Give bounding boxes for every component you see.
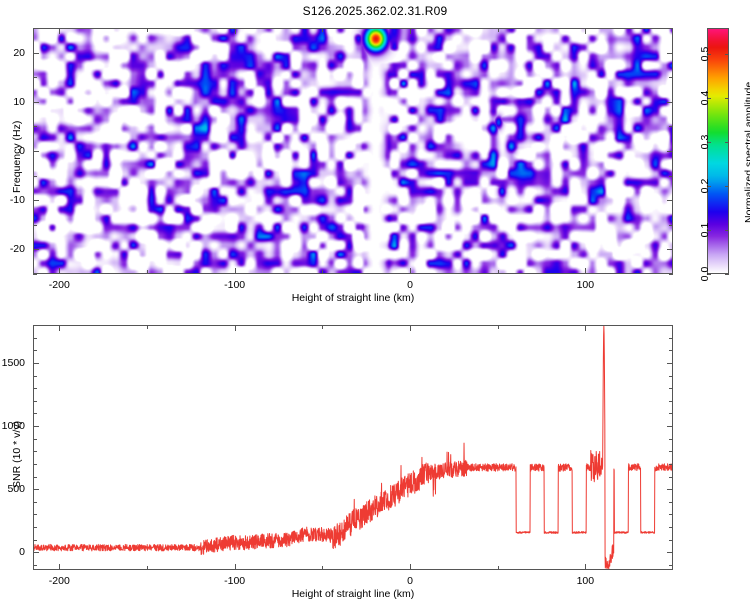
snr-ytick-minor [33, 439, 37, 440]
snr-xtick-major-top [410, 325, 411, 331]
snr-ytick-minor [33, 527, 37, 528]
snr-ytick-major-right [667, 363, 673, 364]
spec-ytick-major-right [667, 53, 673, 54]
figure-root: S126.2025.362.02.31.R09 -200-1000100-20-… [0, 0, 750, 600]
snr-ytick-major [33, 426, 39, 427]
snr-ytick-minor-right [669, 540, 673, 541]
spec-ytick-minor-right [669, 126, 673, 127]
spec-xticklabel: -100 [217, 279, 253, 291]
spec-ytick-minor [33, 225, 37, 226]
snr-panel [33, 325, 673, 570]
spec-ytick-minor-right [669, 225, 673, 226]
spectrogram-image [34, 29, 673, 274]
spec-xtick-major-top [235, 28, 236, 34]
spec-ytick-minor [33, 28, 37, 29]
spec-yticklabel: -20 [0, 243, 25, 255]
snr-xtick-minor-top [147, 325, 148, 329]
spec-ytick-minor-right [669, 77, 673, 78]
snr-xtick-minor [498, 566, 499, 570]
snr-ytick-minor [33, 451, 37, 452]
spec-xtick-minor [498, 270, 499, 274]
spec-xtick-major-top [410, 28, 411, 34]
spec-xtick-minor-top [498, 28, 499, 32]
snr-xticklabel: -200 [41, 575, 77, 587]
spec-ytick-major-right [667, 249, 673, 250]
colorbar-gradient [708, 29, 728, 273]
snr-ytick-minor-right [669, 527, 673, 528]
snr-xticklabel: 100 [567, 575, 603, 587]
spec-xtick-minor [322, 270, 323, 274]
snr-ytick-minor-right [669, 350, 673, 351]
spec-xtick-minor [147, 270, 148, 274]
snr-xticklabel: -100 [217, 575, 253, 587]
spec-ytick-minor [33, 274, 37, 275]
snr-ytick-minor [33, 477, 37, 478]
colorbar-ticklabel: 0.2 [699, 171, 711, 201]
spec-ytick-major-right [667, 102, 673, 103]
spec-ytick-major-right [667, 151, 673, 152]
snr-ytick-minor [33, 502, 37, 503]
spectrogram-xaxis-label: Height of straight line (km) [33, 292, 673, 304]
snr-ytick-minor-right [669, 388, 673, 389]
snr-ytick-major-right [667, 426, 673, 427]
colorbar-ticklabel: 0.3 [699, 127, 711, 157]
snr-xtick-minor-top [322, 325, 323, 329]
spec-xtick-major [410, 268, 411, 274]
snr-trace [34, 326, 673, 570]
snr-ytick-minor-right [669, 502, 673, 503]
colorbar-tick-right [725, 142, 729, 143]
snr-xtick-major-top [235, 325, 236, 331]
snr-ytick-minor-right [669, 464, 673, 465]
spec-ytick-minor-right [669, 28, 673, 29]
snr-ytick-minor-right [669, 401, 673, 402]
snr-ytick-major [33, 552, 39, 553]
spec-yticklabel: -10 [0, 194, 25, 206]
snr-xtick-major [235, 564, 236, 570]
snr-ytick-minor [33, 401, 37, 402]
snr-ytick-minor [33, 376, 37, 377]
snr-yaxis-label: SNR (10 * v/v) [11, 420, 23, 487]
spec-xtick-major [59, 268, 60, 274]
spec-ytick-minor-right [669, 274, 673, 275]
spec-ytick-minor [33, 77, 37, 78]
snr-xtick-major [59, 564, 60, 570]
snr-xtick-major-top [59, 325, 60, 331]
snr-xticklabel: 0 [392, 575, 428, 587]
spec-ytick-major [33, 102, 39, 103]
colorbar-ticklabel: 0.5 [699, 39, 711, 69]
spec-ytick-minor [33, 126, 37, 127]
snr-ytick-minor-right [669, 477, 673, 478]
spec-ytick-major-right [667, 200, 673, 201]
spec-xtick-major-top [585, 28, 586, 34]
snr-xaxis-label: Height of straight line (km) [33, 588, 673, 600]
snr-ytick-minor-right [669, 376, 673, 377]
snr-xtick-major [410, 564, 411, 570]
spec-xticklabel: -200 [41, 279, 77, 291]
spec-xtick-minor-top [147, 28, 148, 32]
spec-ytick-minor [33, 176, 37, 177]
spec-yticklabel: 10 [0, 96, 25, 108]
colorbar-ticklabel: 0.4 [699, 83, 711, 113]
snr-xtick-minor-top [498, 325, 499, 329]
snr-yticklabel: 0 [0, 546, 25, 558]
snr-line [34, 326, 673, 570]
snr-ytick-minor [33, 350, 37, 351]
snr-ytick-minor-right [669, 413, 673, 414]
snr-ytick-minor [33, 565, 37, 566]
colorbar-label: Normalized spectral amplitude [743, 82, 750, 223]
figure-title: S126.2025.362.02.31.R09 [0, 4, 750, 18]
spec-xticklabel: 0 [392, 279, 428, 291]
spec-xticklabel: 100 [567, 279, 603, 291]
snr-ytick-minor-right [669, 338, 673, 339]
spec-ytick-minor-right [669, 176, 673, 177]
spec-ytick-major [33, 200, 39, 201]
colorbar-tick-right [725, 274, 729, 275]
spec-yticklabel: 20 [0, 47, 25, 59]
snr-ytick-major [33, 489, 39, 490]
snr-ytick-minor [33, 514, 37, 515]
spec-xtick-major [235, 268, 236, 274]
spec-ytick-major [33, 249, 39, 250]
snr-ytick-minor-right [669, 439, 673, 440]
snr-ytick-minor [33, 338, 37, 339]
spectrogram-yaxis-label: Frequency (Hz) [11, 121, 23, 193]
colorbar-tick-right [725, 54, 729, 55]
colorbar-ticklabel: 0.1 [699, 215, 711, 245]
spec-xtick-minor-top [322, 28, 323, 32]
spec-ytick-major [33, 151, 39, 152]
spectrogram-panel [33, 28, 673, 274]
spec-xtick-major [585, 268, 586, 274]
colorbar-tick-right [725, 98, 729, 99]
snr-ytick-minor-right [669, 451, 673, 452]
snr-xtick-major [585, 564, 586, 570]
snr-ytick-minor-right [669, 565, 673, 566]
colorbar-tick-right [725, 186, 729, 187]
snr-ytick-minor [33, 388, 37, 389]
colorbar-ticklabel: 0.0 [699, 259, 711, 289]
snr-xtick-minor [322, 566, 323, 570]
colorbar-tick-right [725, 230, 729, 231]
snr-ytick-minor-right [669, 514, 673, 515]
spec-ytick-major [33, 53, 39, 54]
snr-ytick-minor [33, 540, 37, 541]
snr-xtick-major-top [585, 325, 586, 331]
snr-ytick-minor [33, 464, 37, 465]
snr-ytick-major-right [667, 552, 673, 553]
spec-xtick-major-top [59, 28, 60, 34]
snr-ytick-major-right [667, 489, 673, 490]
snr-yticklabel: 1500 [0, 357, 25, 369]
snr-xtick-minor [147, 566, 148, 570]
snr-ytick-minor [33, 413, 37, 414]
snr-ytick-major [33, 363, 39, 364]
